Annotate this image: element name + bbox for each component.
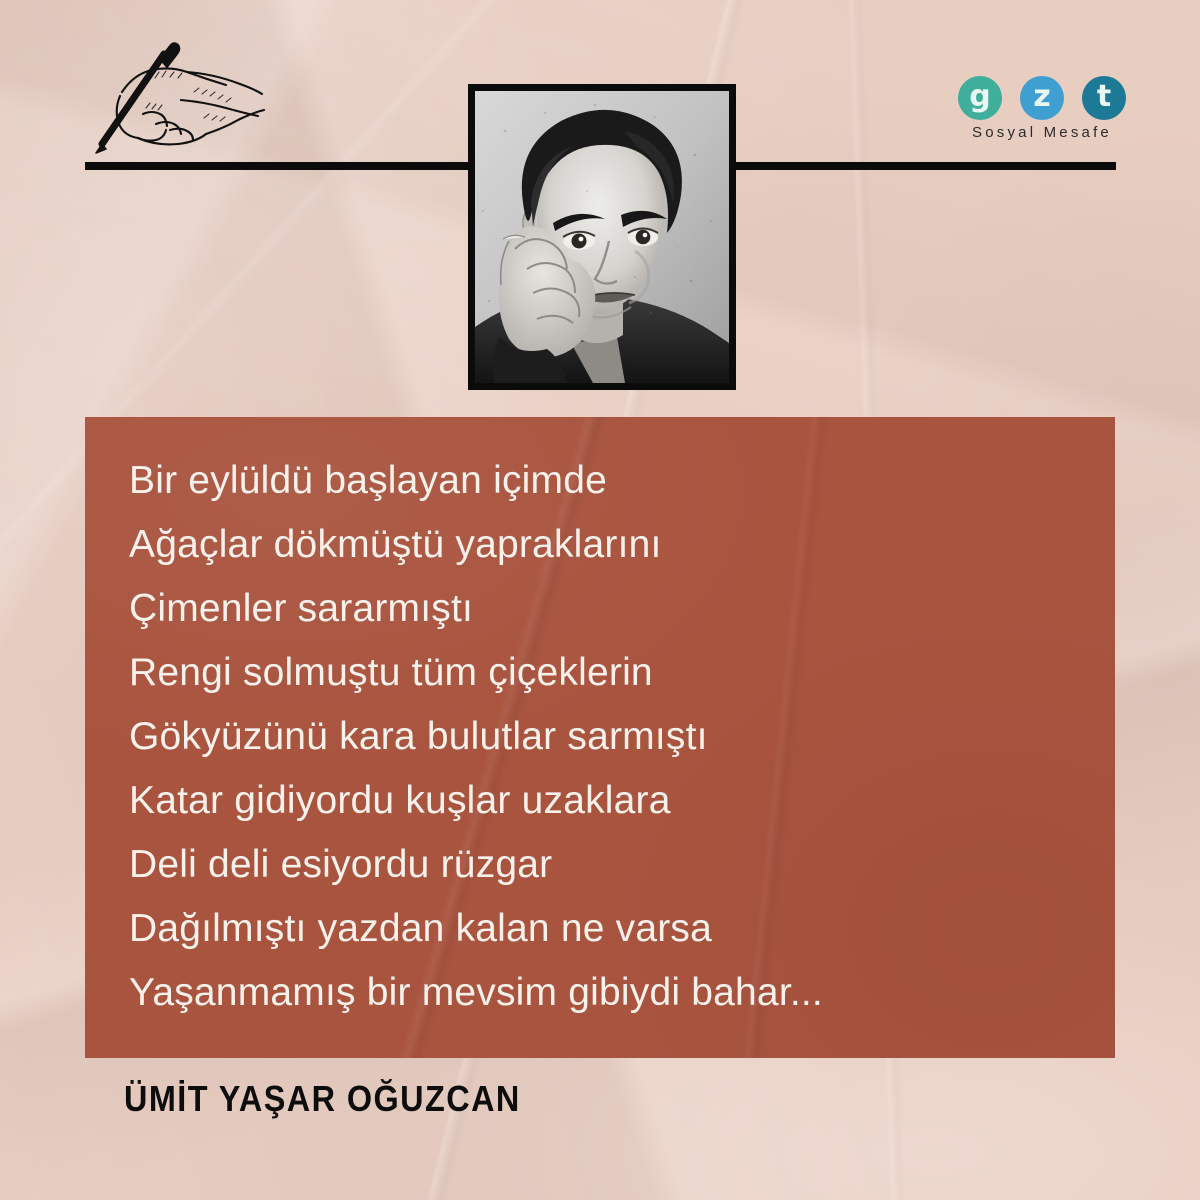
poem-line: Katar gidiyordu kuşlar uzaklara	[129, 781, 1115, 820]
poem-line: Dağılmıştı yazdan kalan ne varsa	[129, 909, 1115, 948]
gzt-logo-circles: g z t	[958, 76, 1126, 120]
poem-line: Ağaçlar dökmüştü yapraklarını	[129, 525, 1115, 564]
poem-line: Çimenler sararmıştı	[129, 589, 1115, 628]
poem-line: Yaşanmamış bir mevsim gibiydi bahar...	[129, 973, 1115, 1012]
logo-letter-z-icon: z	[1020, 76, 1064, 120]
poet-portrait-photo	[468, 84, 736, 390]
hand-writing-icon	[86, 30, 276, 160]
author-name: ÜMİT YAŞAR OĞUZCAN	[124, 1078, 521, 1120]
gzt-logo[interactable]: g z t Sosyal Mesafe	[956, 76, 1128, 141]
poem-lines: Bir eylüldü başlayan içimde Ağaçlar dökm…	[85, 417, 1115, 1012]
logo-letter-g-icon: g	[958, 76, 1002, 120]
poem-panel: Bir eylüldü başlayan içimde Ağaçlar dökm…	[85, 417, 1115, 1058]
poem-poster: g z t Sosyal Mesafe Bir eylüldü başlayan…	[0, 0, 1200, 1200]
poem-line: Rengi solmuştu tüm çiçeklerin	[129, 653, 1115, 692]
poem-line: Gökyüzünü kara bulutlar sarmıştı	[129, 717, 1115, 756]
logo-tagline: Sosyal Mesafe	[956, 124, 1128, 141]
poem-line: Deli deli esiyordu rüzgar	[129, 845, 1115, 884]
logo-letter-t-icon: t	[1082, 76, 1126, 120]
poem-line: Bir eylüldü başlayan içimde	[129, 461, 1115, 500]
